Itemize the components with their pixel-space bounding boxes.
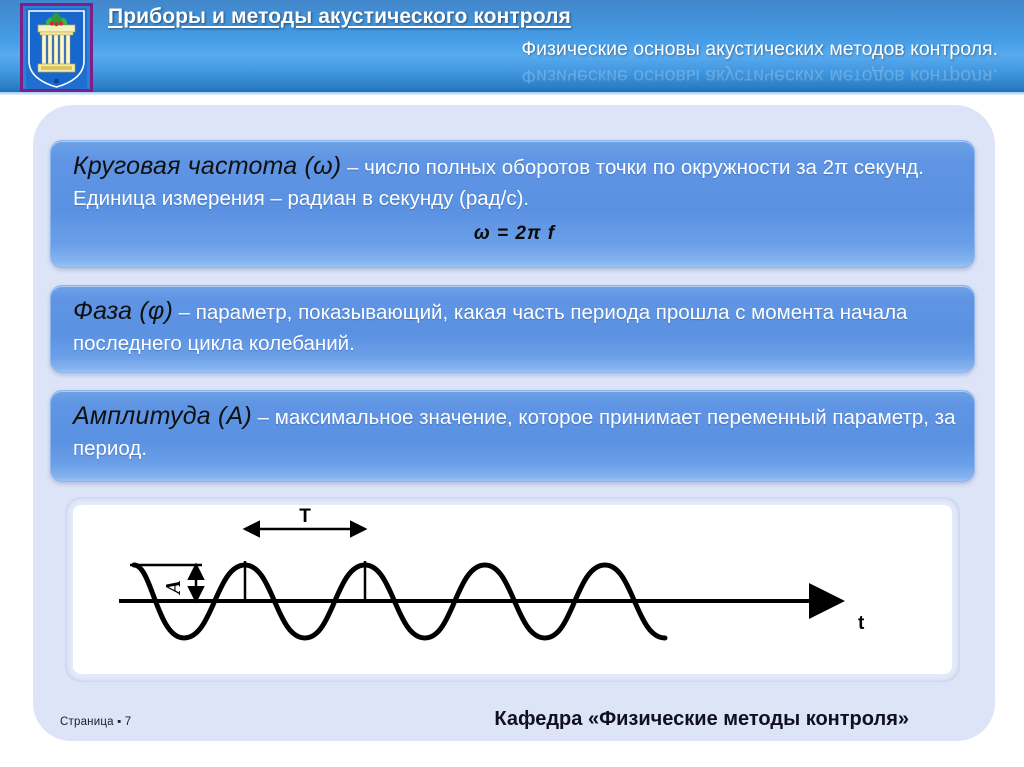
- sine-wave-diagram: T A t: [73, 505, 952, 674]
- slide-subtitle-reflection: Физические основы акустических методов к…: [108, 64, 998, 87]
- definition-text: Амплитуда (А) – максимальное значение, к…: [73, 401, 956, 464]
- definition-text: Круговая частота (ω) – число полных обор…: [73, 151, 956, 214]
- slide-title: Приборы и методы акустического контроля: [108, 5, 898, 29]
- definition-box-amplitude: Амплитуда (А) – максимальное значение, к…: [50, 390, 975, 482]
- amplitude-label: A: [161, 580, 185, 596]
- definition-box-circular-frequency: Круговая частота (ω) – число полных обор…: [50, 140, 975, 268]
- waveform-figure-frame: T A t: [65, 497, 960, 682]
- department-label: Кафедра «Физические методы контроля»: [0, 708, 955, 731]
- term-phase: Фаза (φ): [73, 297, 173, 325]
- university-coat-of-arms: [20, 3, 93, 92]
- coat-of-arms-shield: [27, 9, 86, 89]
- time-axis-label: t: [858, 613, 865, 634]
- definition-text: Фаза (φ) – параметр, показывающий, какая…: [73, 296, 956, 359]
- term-amplitude: Амплитуда (А): [73, 402, 252, 430]
- slide-header: Приборы и методы акустического контроля …: [0, 0, 1024, 95]
- period-label: T: [299, 506, 311, 527]
- slide-subtitle: Физические основы акустических методов к…: [108, 38, 998, 61]
- definition-box-phase: Фаза (φ) – параметр, показывающий, какая…: [50, 285, 975, 373]
- term-circular-frequency: Круговая частота (ω): [73, 152, 341, 180]
- definition-body: – параметр, показывающий, какая часть пе…: [73, 301, 907, 355]
- formula-circular-frequency: ω = 2π f: [73, 223, 956, 245]
- header-divider: [0, 92, 1024, 95]
- waveform-figure: T A t: [73, 505, 952, 674]
